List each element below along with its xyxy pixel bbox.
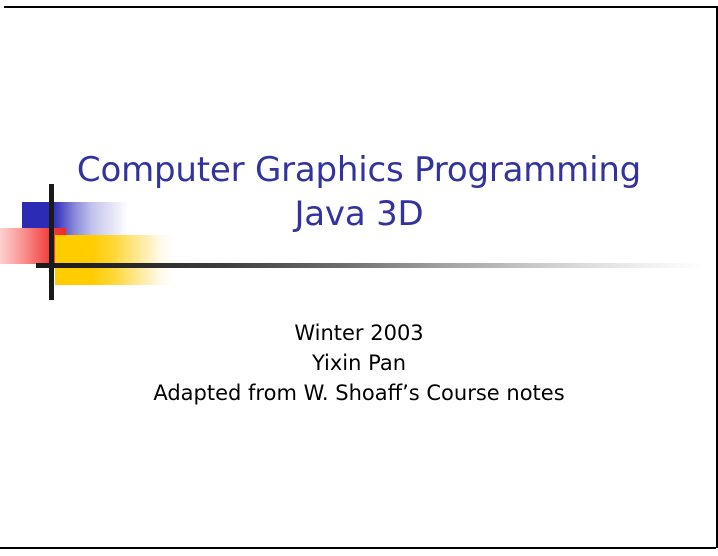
slide-title: Computer Graphics Programming Java 3D (0, 148, 718, 236)
slide-border-top (4, 6, 716, 8)
horizontal-rule-divider (36, 263, 704, 268)
slide-border-bottom (0, 547, 716, 549)
slide-subtitle-author: Yixin Pan (0, 348, 718, 378)
presentation-slide: Computer Graphics Programming Java 3D Wi… (0, 0, 718, 556)
slide-title-line-2: Java 3D (0, 192, 718, 236)
slide-subtitle: Winter 2003 Yixin Pan Adapted from W. Sh… (0, 318, 718, 408)
slide-title-line-1: Computer Graphics Programming (0, 148, 718, 192)
yellow-square-icon (55, 235, 175, 285)
slide-subtitle-attribution: Adapted from W. Shoaff’s Course notes (0, 378, 718, 408)
slide-subtitle-term: Winter 2003 (0, 318, 718, 348)
